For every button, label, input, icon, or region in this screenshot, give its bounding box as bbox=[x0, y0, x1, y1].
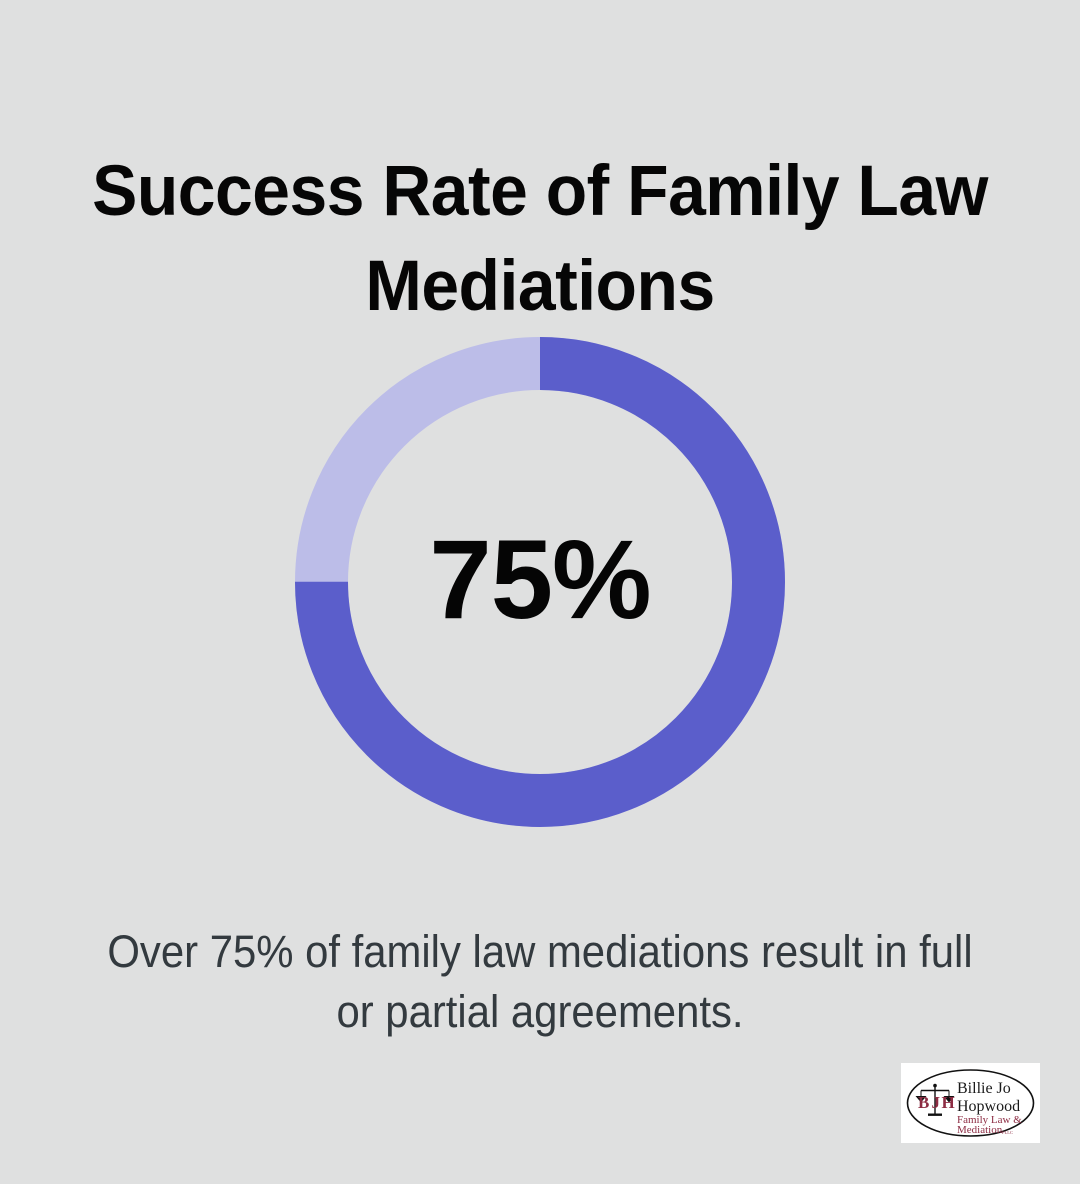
logo-tagline: Family Law & Mediation PLLC bbox=[957, 1114, 1022, 1136]
page-title: Success Rate of Family Law Mediations bbox=[72, 144, 1008, 334]
logo-suffix: PLLC bbox=[1002, 1130, 1013, 1135]
logo-tagline-line-2: Mediation bbox=[957, 1124, 1003, 1136]
infographic-canvas: Success Rate of Family Law Mediations 75… bbox=[0, 0, 1080, 1184]
svg-text:H: H bbox=[942, 1093, 955, 1112]
logo-firm-name: Billie Jo Hopwood bbox=[957, 1080, 1020, 1115]
logo-name-line-2: Hopwood bbox=[957, 1098, 1020, 1115]
svg-text:J: J bbox=[932, 1093, 941, 1112]
logo-name-line-1: Billie Jo bbox=[957, 1080, 1011, 1097]
donut-chart-svg bbox=[295, 337, 785, 827]
brand-logo-svg: B J H Billie Jo Hopwood Family Law & Med… bbox=[901, 1063, 1040, 1143]
logo-monogram: B J H bbox=[918, 1093, 955, 1112]
caption-text: Over 75% of family law mediations result… bbox=[89, 922, 991, 1042]
donut-chart: 75% bbox=[295, 337, 785, 827]
svg-text:B: B bbox=[918, 1093, 929, 1112]
brand-logo: B J H Billie Jo Hopwood Family Law & Med… bbox=[901, 1063, 1040, 1143]
